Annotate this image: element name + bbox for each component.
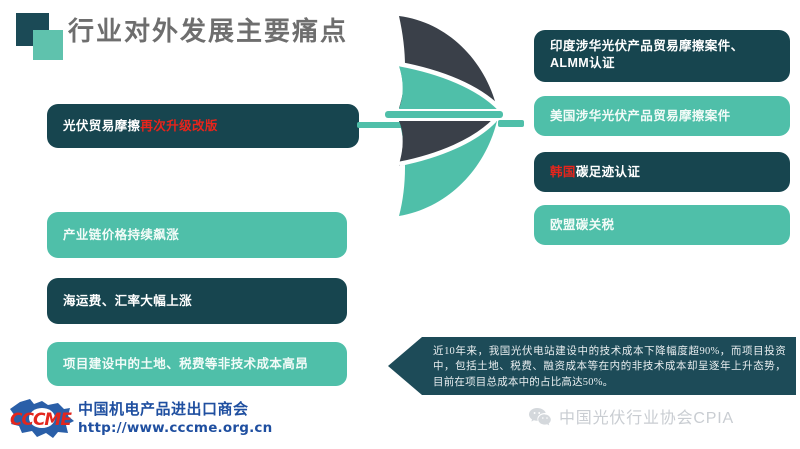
card-label: 海运费、汇率大幅上涨 — [63, 293, 192, 310]
cccme-wordmark: 中国机电产品进出口商会 http://www.cccme.org.cn — [78, 400, 272, 437]
pain-point-card-trade-friction[interactable]: 光伏贸易摩擦再次升级改版 — [47, 104, 359, 148]
issue-card-korea-carbon-footprint[interactable]: 韩国碳足迹认证 — [534, 152, 790, 192]
cpia-watermark: 中国光伏行业协会CPIA — [528, 404, 734, 428]
card-label: 欧盟碳关税 — [550, 217, 615, 234]
slide-canvas: 行业对外发展主要痛点 光伏贸易摩擦再次升级改版 产业链价格持续飙涨 海运费、汇率… — [0, 0, 800, 449]
page-title: 行业对外发展主要痛点 — [68, 13, 348, 49]
pain-point-card-supply-chain-price[interactable]: 产业链价格持续飙涨 — [47, 212, 347, 258]
card-label: 美国涉华光伏产品贸易摩擦案件 — [550, 108, 731, 125]
card-label: 项目建设中的土地、税费等非技术成本高昂 — [63, 356, 308, 373]
pain-point-card-nontech-cost[interactable]: 项目建设中的土地、税费等非技术成本高昂 — [47, 342, 347, 386]
issue-card-usa-trade-case[interactable]: 美国涉华光伏产品贸易摩擦案件 — [534, 96, 790, 136]
cpia-label: 中国光伏行业协会CPIA — [559, 404, 734, 428]
cccme-logo: CCCME 中国机电产品进出口商会 http://www.cccme.org.c… — [8, 393, 308, 443]
issue-card-eu-carbon-tariff[interactable]: 欧盟碳关税 — [534, 205, 790, 245]
callout-text: 近10年来，我国光伏电站建设中的技术成本下降幅度超90%，而项目投资中，包括土地… — [433, 344, 786, 390]
card-label-highlight: 韩国 — [550, 164, 576, 181]
card-label: 碳足迹认证 — [576, 164, 641, 181]
wechat-icon — [528, 406, 552, 426]
cccme-gear-icon: CCCME — [8, 396, 76, 440]
pain-point-card-shipping-fx[interactable]: 海运费、汇率大幅上涨 — [47, 278, 347, 324]
card-label: 印度涉华光伏产品贸易摩擦案件、ALMM认证 — [550, 38, 774, 72]
cccme-name-cn: 中国机电产品进出口商会 — [78, 400, 272, 419]
cccme-url[interactable]: http://www.cccme.org.cn — [78, 419, 272, 437]
issue-card-india-almm[interactable]: 印度涉华光伏产品贸易摩擦案件、ALMM认证 — [534, 30, 790, 82]
callout-arrow-banner: 近10年来，我国光伏电站建设中的技术成本下降幅度超90%，而项目投资中，包括土地… — [388, 337, 796, 395]
umbrella-icon — [385, 8, 515, 230]
header-accent-square-teal — [33, 30, 63, 60]
cccme-acronym: CCCME — [10, 410, 71, 430]
card-label: 光伏贸易摩擦 — [63, 118, 140, 135]
card-label: 产业链价格持续飙涨 — [63, 227, 179, 244]
card-label-highlight: 再次升级改版 — [140, 118, 217, 135]
